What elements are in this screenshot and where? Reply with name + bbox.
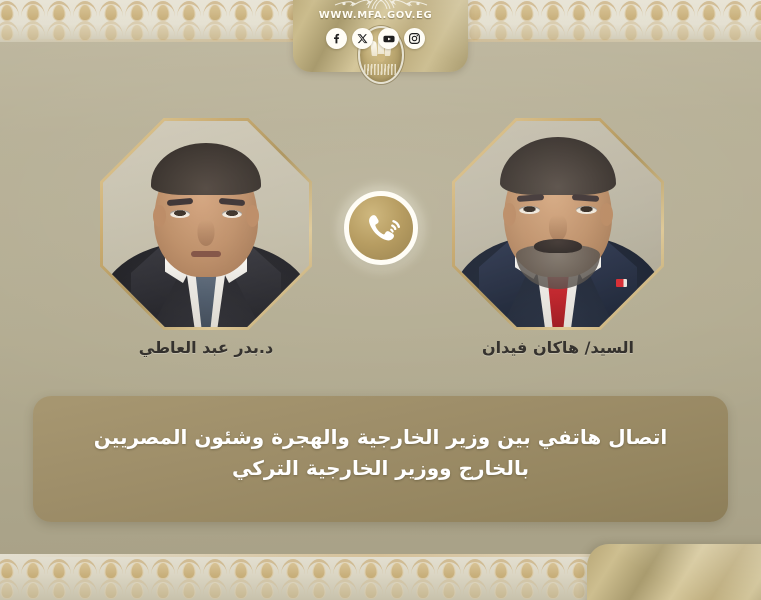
octagon-inner-left	[103, 121, 309, 327]
octagon-frame-right	[452, 118, 664, 330]
octagon-frame-left	[100, 118, 312, 330]
octagon-inner-right	[455, 121, 661, 327]
announcement-card: د.بدر عبد العاطي	[0, 0, 761, 600]
name-label-left: د.بدر عبد العاطي	[100, 338, 312, 357]
lapel-flag-pin	[616, 279, 627, 287]
caption-panel: اتصال هاتفي بين وزير الخارجية والهجرة وش…	[33, 396, 728, 522]
youtube-icon[interactable]	[378, 28, 399, 49]
x-twitter-icon[interactable]	[352, 28, 373, 49]
website-url[interactable]: WWW.MFA.GOV.EG	[0, 10, 751, 21]
instagram-icon[interactable]	[404, 28, 425, 49]
portrait-card-left	[100, 118, 312, 330]
phone-call-icon	[366, 213, 406, 253]
portrait-hakan-fidan	[455, 121, 661, 327]
caption-text: اتصال هاتفي بين وزير الخارجية والهجرة وش…	[59, 422, 702, 484]
name-label-right: السيد/ هاكان فيدان	[452, 338, 664, 357]
portrait-card-right	[452, 118, 664, 330]
facebook-icon[interactable]	[326, 28, 347, 49]
phone-call-badge	[344, 191, 418, 265]
emblem-arabic-script	[364, 64, 398, 75]
social-links-row	[0, 28, 751, 49]
footer-gold-plaque	[587, 544, 761, 600]
portrait-badr-abdelatty	[103, 121, 309, 327]
